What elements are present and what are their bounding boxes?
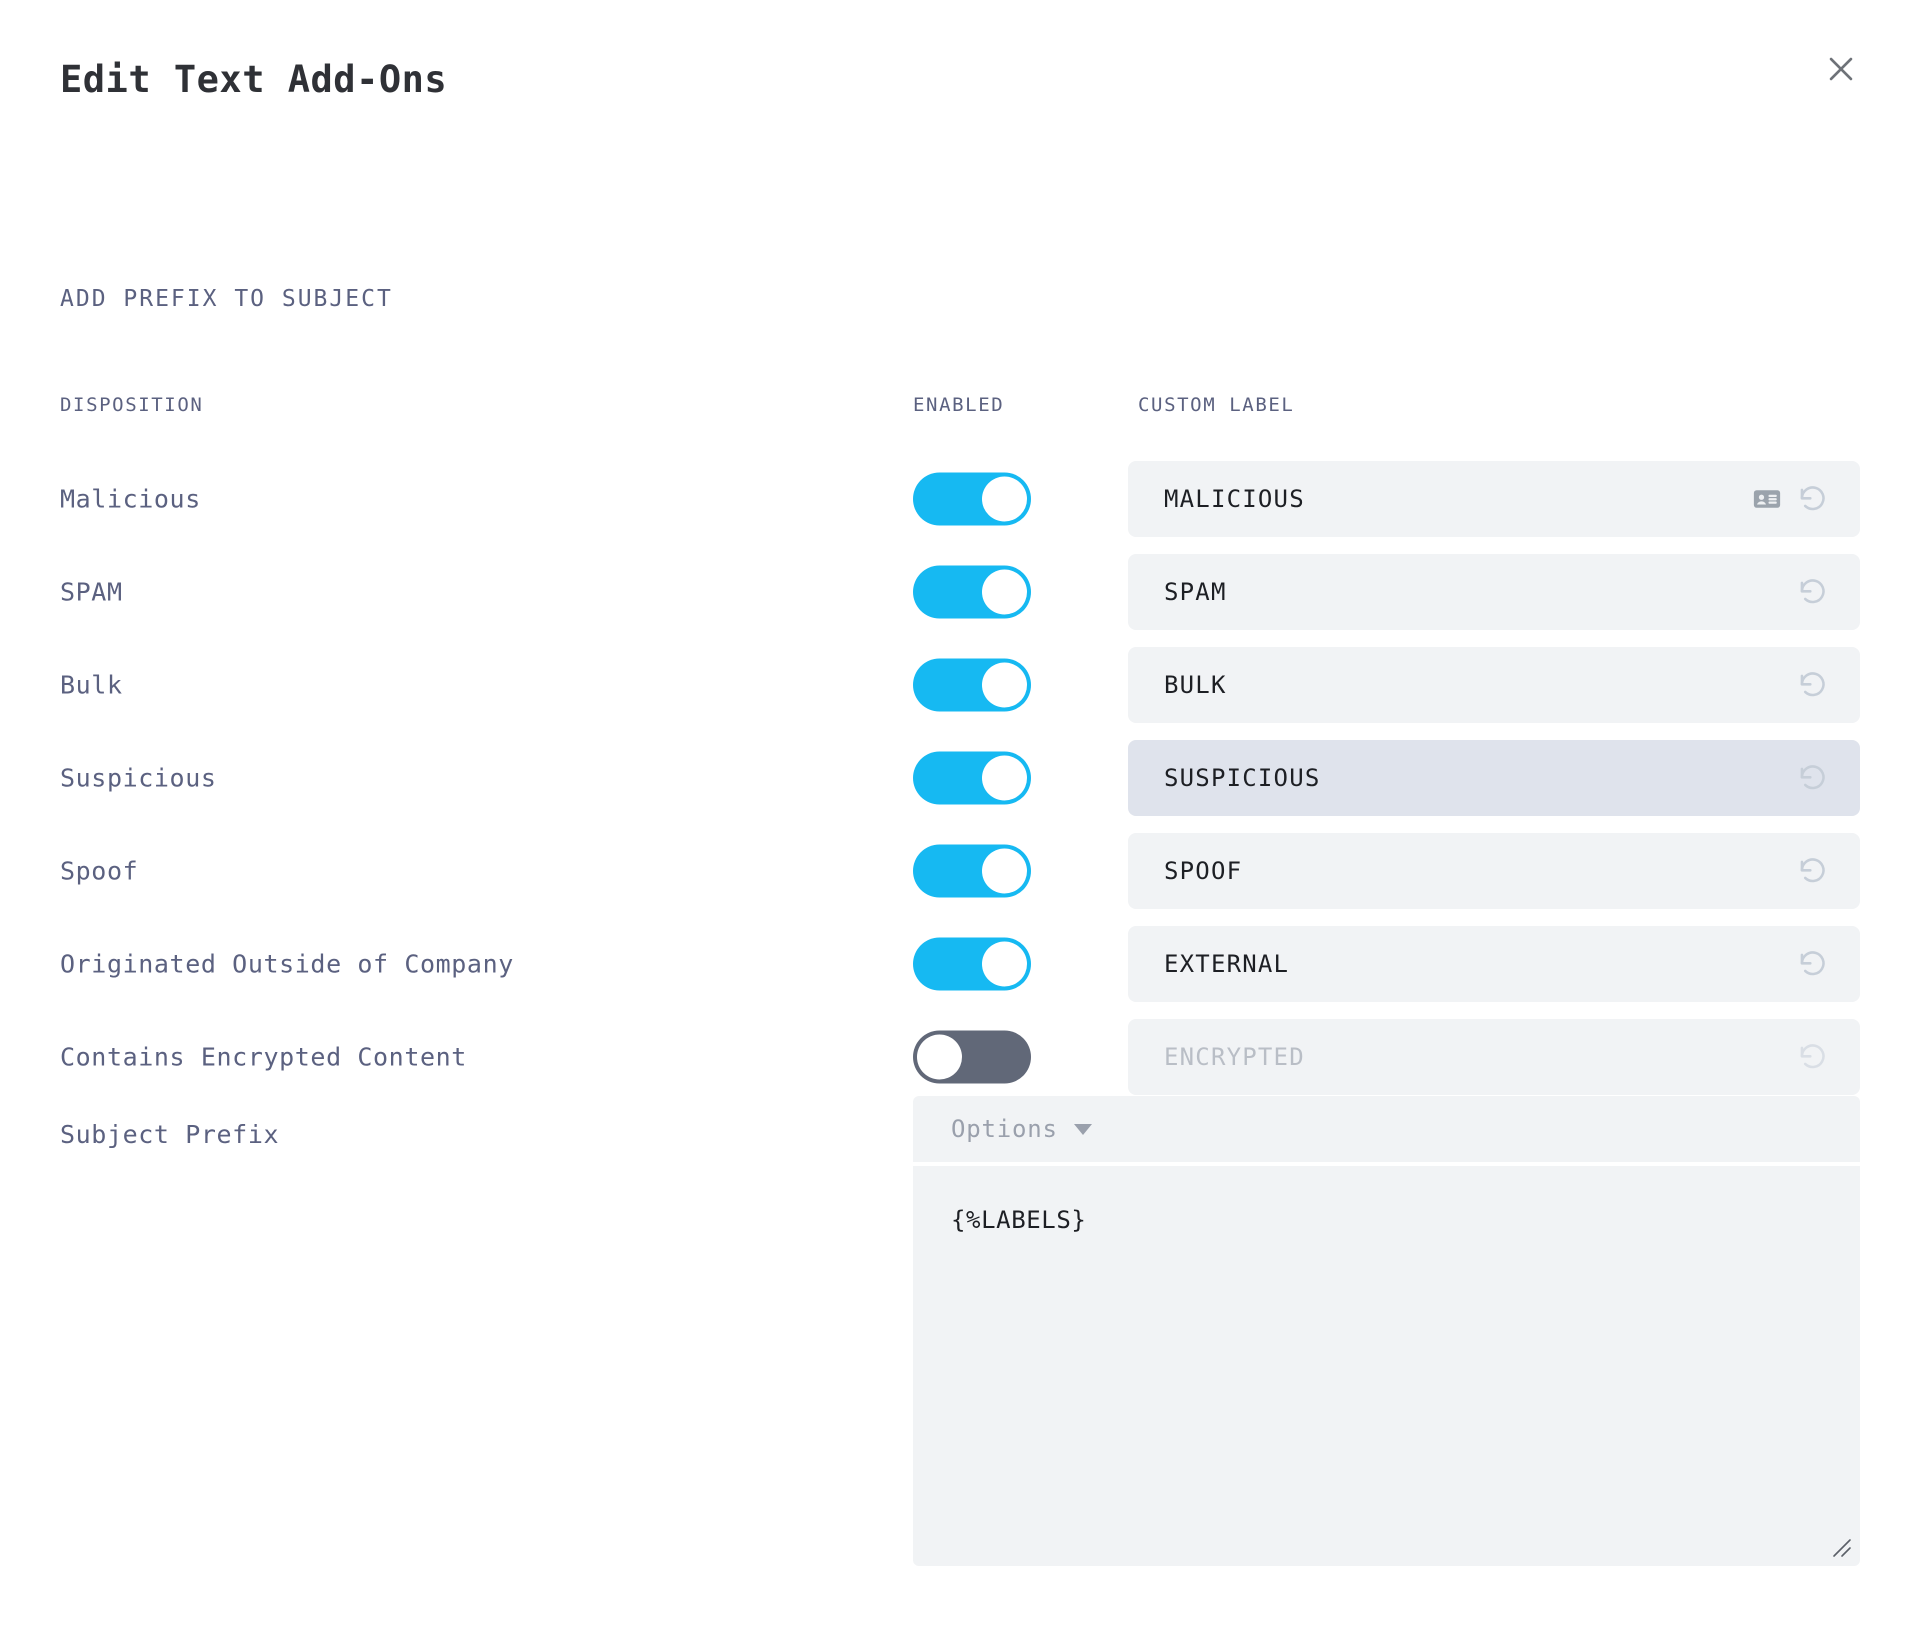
toggle-knob	[982, 569, 1027, 614]
enabled-toggle-cell	[913, 937, 1031, 990]
column-header-custom-label: CUSTOM LABEL	[1138, 394, 1294, 416]
enabled-toggle-cell	[913, 1030, 1031, 1083]
reset-icon[interactable]	[1796, 761, 1830, 795]
toggle-knob	[982, 755, 1027, 800]
enabled-toggle-cell	[913, 751, 1031, 804]
custom-label-input: ENCRYPTED	[1128, 1019, 1860, 1095]
enabled-toggle[interactable]	[913, 472, 1031, 525]
custom-label-value: SPOOF	[1128, 857, 1796, 885]
chevron-down-icon	[1074, 1124, 1092, 1135]
subject-prefix-textarea[interactable]: {%LABELS}	[913, 1166, 1860, 1566]
table-row: MaliciousMALICIOUS	[0, 452, 1908, 545]
enabled-toggle-cell	[913, 472, 1031, 525]
toggle-knob	[982, 848, 1027, 893]
subject-prefix-editor: Options {%LABELS}	[913, 1096, 1860, 1566]
custom-label-value: MALICIOUS	[1128, 485, 1752, 513]
table-row: SpoofSPOOF	[0, 824, 1908, 917]
options-dropdown-label: Options	[951, 1115, 1058, 1143]
table-row: SPAMSPAM	[0, 545, 1908, 638]
reset-icon[interactable]	[1796, 575, 1830, 609]
custom-label-value: BULK	[1128, 671, 1796, 699]
custom-label-input[interactable]: MALICIOUS	[1128, 461, 1860, 537]
disposition-label: Malicious	[60, 484, 201, 513]
enabled-toggle-cell	[913, 658, 1031, 711]
options-dropdown[interactable]: Options	[913, 1096, 1860, 1162]
enabled-toggle-cell	[913, 565, 1031, 618]
subject-prefix-label: Subject Prefix	[60, 1120, 279, 1149]
reset-icon	[1796, 1040, 1830, 1074]
field-icons	[1752, 482, 1860, 516]
column-header-enabled: ENABLED	[913, 394, 1004, 416]
disposition-label: Originated Outside of Company	[60, 949, 514, 978]
field-icons	[1796, 668, 1860, 702]
reset-icon[interactable]	[1796, 668, 1830, 702]
enabled-toggle[interactable]	[913, 937, 1031, 990]
field-icons	[1796, 1040, 1860, 1074]
disposition-label: Bulk	[60, 670, 123, 699]
disposition-label: Spoof	[60, 856, 138, 885]
custom-label-input[interactable]: SPOOF	[1128, 833, 1860, 909]
custom-label-input[interactable]: BULK	[1128, 647, 1860, 723]
disposition-label: Suspicious	[60, 763, 217, 792]
edit-text-addons-dialog: Edit Text Add-Ons ADD PREFIX TO SUBJECT …	[0, 0, 1908, 1650]
custom-label-value: SUSPICIOUS	[1128, 764, 1796, 792]
custom-label-value: ENCRYPTED	[1128, 1043, 1796, 1071]
toggle-knob	[982, 941, 1027, 986]
resize-grip-icon[interactable]	[1831, 1537, 1853, 1559]
field-icons	[1796, 947, 1860, 981]
custom-label-input[interactable]: EXTERNAL	[1128, 926, 1860, 1002]
subject-prefix-value: {%LABELS}	[951, 1206, 1086, 1234]
reset-icon[interactable]	[1796, 854, 1830, 888]
section-title: ADD PREFIX TO SUBJECT	[60, 286, 393, 312]
custom-label-input[interactable]: SUSPICIOUS	[1128, 740, 1860, 816]
toggle-knob	[917, 1034, 962, 1079]
enabled-toggle[interactable]	[913, 751, 1031, 804]
enabled-toggle[interactable]	[913, 844, 1031, 897]
dialog-header: Edit Text Add-Ons	[0, 0, 1908, 150]
table-row: SuspiciousSUSPICIOUS	[0, 731, 1908, 824]
custom-label-value: EXTERNAL	[1128, 950, 1796, 978]
table-row: Contains Encrypted ContentENCRYPTED	[0, 1010, 1908, 1103]
close-icon	[1824, 52, 1858, 86]
reset-icon[interactable]	[1796, 482, 1830, 516]
column-header-disposition: DISPOSITION	[60, 394, 203, 416]
table-row: Originated Outside of CompanyEXTERNAL	[0, 917, 1908, 1010]
enabled-toggle[interactable]	[913, 565, 1031, 618]
field-icons	[1796, 761, 1860, 795]
reset-icon[interactable]	[1796, 947, 1830, 981]
custom-label-value: SPAM	[1128, 578, 1796, 606]
contact-card-icon[interactable]	[1752, 484, 1782, 514]
field-icons	[1796, 854, 1860, 888]
enabled-toggle[interactable]	[913, 658, 1031, 711]
disposition-rows: MaliciousMALICIOUSSPAMSPAMBulkBULKSuspic…	[0, 452, 1908, 1103]
custom-label-input[interactable]: SPAM	[1128, 554, 1860, 630]
toggle-knob	[982, 476, 1027, 521]
enabled-toggle-cell	[913, 844, 1031, 897]
disposition-label: SPAM	[60, 577, 123, 606]
disposition-label: Contains Encrypted Content	[60, 1042, 467, 1071]
toggle-knob	[982, 662, 1027, 707]
close-button[interactable]	[1812, 40, 1870, 98]
field-icons	[1796, 575, 1860, 609]
enabled-toggle[interactable]	[913, 1030, 1031, 1083]
page-title: Edit Text Add-Ons	[60, 58, 447, 101]
table-row: BulkBULK	[0, 638, 1908, 731]
